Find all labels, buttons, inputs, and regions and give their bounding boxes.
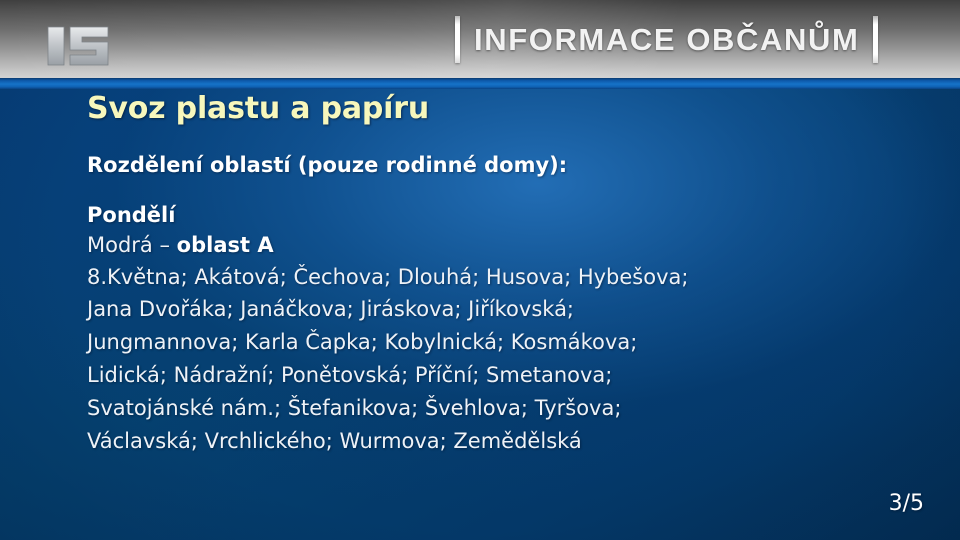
list-item: Jana Dvořáka; Janáčkova; Jiráskova; Jiří… xyxy=(87,293,917,326)
page-title: Svoz plastu a papíru xyxy=(87,92,917,127)
slide-subtitle: Rozdělení oblastí (pouze rodinné domy): xyxy=(87,153,917,178)
street-list: 8.Května; Akátová; Čechova; Dlouhá; Huso… xyxy=(87,261,917,458)
list-item: 8.Května; Akátová; Čechova; Dlouhá; Huso… xyxy=(87,261,917,294)
list-item: Jungmannova; Karla Čapka; Kobylnická; Ko… xyxy=(87,326,917,359)
header-bar: INFORMACE OBČANŮM xyxy=(0,0,960,78)
area-color-label: Modrá – xyxy=(87,233,177,257)
list-item: Václavská; Vrchlického; Wurmova; Zeměděl… xyxy=(87,425,917,458)
area-name-label: oblast A xyxy=(177,233,274,257)
header-accent-strip xyxy=(0,78,960,89)
slide-content: Svoz plastu a papíru Rozdělení oblastí (… xyxy=(87,92,917,458)
area-line: Modrá – oblast A xyxy=(87,230,917,260)
list-item: Lidická; Nádražní; Ponětovská; Příční; S… xyxy=(87,359,917,392)
is-logo xyxy=(46,24,130,68)
day-heading: Pondělí xyxy=(87,200,917,230)
page-indicator: 3/5 xyxy=(889,493,924,515)
header-title: INFORMACE OBČANŮM xyxy=(474,24,859,55)
header-divider-right-icon xyxy=(873,16,878,63)
presentation-slide: INFORMACE OBČANŮM Svoz plastu a papíru R… xyxy=(0,0,960,540)
header-divider-left-icon xyxy=(455,16,460,63)
list-item: Svatojánské nám.; Štefanikova; Švehlova;… xyxy=(87,392,917,425)
header-title-group: INFORMACE OBČANŮM xyxy=(455,14,878,64)
